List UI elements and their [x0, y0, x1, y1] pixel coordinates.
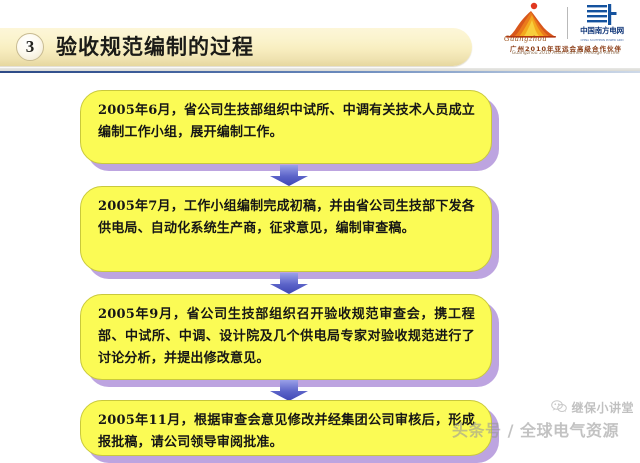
guangzhou-2010-torch-logo: Guangzhou: [498, 2, 564, 42]
bottom-watermark-label: 头条号 / 全球电气资源: [452, 417, 619, 441]
flow-step-1[interactable]: 2005年6月，省公司生技部组织中试所、中调有关技术人员成立编制工作小组，展开编…: [80, 90, 492, 164]
flow-step-3[interactable]: 2005年9月，省公司生技部组织召开验收规范审查会，携工程部、中试所、中调、设计…: [80, 294, 492, 380]
wechat-icon: [551, 398, 567, 417]
csg-name-cn: 中国南方电网: [573, 25, 631, 36]
flow-step-1-box[interactable]: 2005年6月，省公司生技部组织中试所、中调有关技术人员成立编制工作小组，展开编…: [80, 90, 492, 164]
flow-step-3-box[interactable]: 2005年9月，省公司生技部组织召开验收规范审查会，携工程部、中试所、中调、设计…: [80, 294, 492, 380]
flow-step-4[interactable]: 2005年11月，根据审查会意见修改并经集团公司审核后，形成报批稿，请公司领导审…: [80, 400, 492, 456]
wechat-watermark: 继保小讲堂: [551, 398, 634, 417]
flow-step-1-text: 2005年6月，省公司生技部组织中试所、中调有关技术人员成立编制工作小组，展开编…: [81, 91, 491, 153]
partner-logo-block: Guangzhou 中国南方电网 CHINA SOUTHERN POWER GR…: [498, 2, 634, 58]
flow-step-3-text: 2005年9月，省公司生技部组织召开验收规范审查会，携工程部、中试所、中调、设计…: [81, 295, 491, 379]
flow-step-4-box[interactable]: 2005年11月，根据审查会意见修改并经集团公司审核后，形成报批稿，请公司领导审…: [80, 400, 492, 456]
process-flow: 2005年6月，省公司生技部组织中试所、中调有关技术人员成立编制工作小组，展开编…: [0, 80, 640, 443]
header-divider-blue: [0, 71, 640, 73]
wechat-watermark-label: 继保小讲堂: [571, 399, 634, 416]
down-arrow-connector-2: [269, 273, 309, 295]
china-southern-power-grid-logo: 中国南方电网 CHINA SOUTHERN POWER GRID: [573, 2, 631, 42]
csg-name-en: CHINA SOUTHERN POWER GRID: [576, 38, 628, 42]
flow-step-2-box[interactable]: 2005年7月，工作小组编制完成初稿，并由省公司生技部下发各供电局、自动化系统生…: [80, 186, 492, 272]
down-arrow-connector-1: [269, 165, 309, 187]
logo-divider: [567, 7, 568, 39]
flow-step-2[interactable]: 2005年7月，工作小组编制完成初稿，并由省公司生技部下发各供电局、自动化系统生…: [80, 186, 492, 272]
flow-step-2-text: 2005年7月，工作小组编制完成初稿，并由省公司生技部下发各供电局、自动化系统生…: [81, 187, 491, 249]
section-number-badge: 3: [16, 33, 44, 61]
logo-row: Guangzhou 中国南方电网 CHINA SOUTHERN POWER GR…: [498, 2, 634, 42]
flow-step-4-text: 2005年11月，根据审查会意见修改并经集团公司审核后，形成报批稿，请公司领导审…: [81, 401, 491, 463]
page-title: 验收规范编制的过程: [56, 32, 254, 62]
down-arrow-connector-3: [269, 380, 309, 402]
partner-caption-en: Guangzhou 2010 Asian Games Prestige Part…: [498, 51, 634, 56]
slide-header: 3 验收规范编制的过程 Guangzhou: [0, 0, 640, 72]
slide-root: 3 验收规范编制的过程 Guangzhou: [0, 0, 640, 443]
guangzhou-wordmark: Guangzhou: [504, 35, 547, 43]
